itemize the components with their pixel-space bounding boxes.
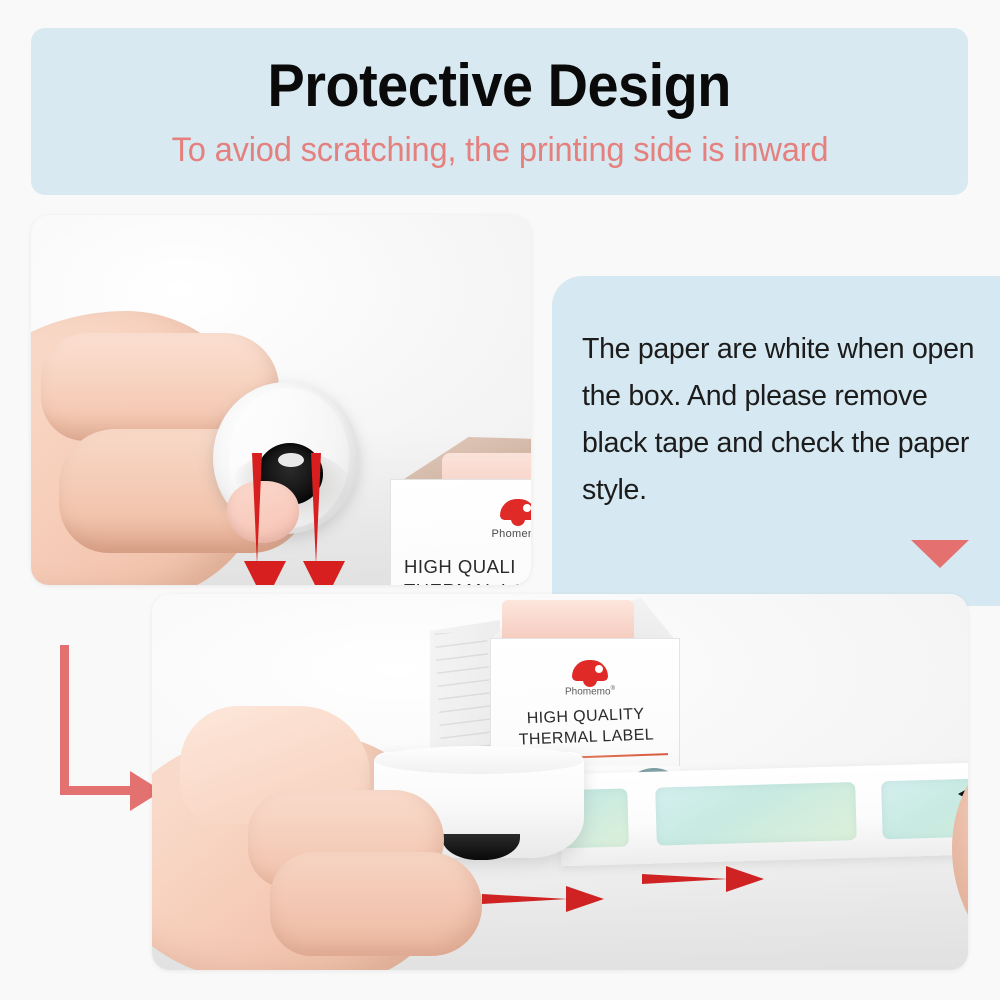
red-right-arrow-icon [482,886,606,912]
photo-peeling-label-scene: Phomemo® HIGH QUALITY THERMAL LABEL [152,594,968,970]
mushroom-logo-icon [572,660,604,684]
red-right-arrow-icon [642,866,766,892]
label-roll-core-hole [278,453,304,467]
box-brand-name-top: Phomemo® [474,528,531,540]
box-title-top: HIGH QUALI THERMAL LA [404,555,531,585]
arrow-shaft [642,874,728,884]
arrow-shaft [311,453,321,565]
arrow-shaft [482,894,568,904]
arrow-head [566,886,604,912]
elbow-vertical [60,645,69,795]
elbow-horizontal [60,786,136,795]
down-triangle-icon [911,540,969,568]
red-down-arrow-icon [303,453,329,585]
label-roll-top-edge [374,746,584,774]
brand-mark: ® [611,686,615,692]
arrow-shaft [252,453,262,565]
info-text-highlight-4: check [771,427,844,461]
label-sticker [655,782,857,846]
box-title-top-line2: THERMAL LA [404,579,531,585]
thumb-finger [270,852,482,956]
header-banner: Protective Design To aviod scratching, t… [31,28,968,195]
infographic-stage: Protective Design To aviod scratching, t… [0,0,1000,1000]
photo-roll-closeup-scene: Phomemo® HIGH QUALI THERMAL LA [31,215,531,585]
mushroom-stem [511,515,525,526]
product-box-top: Phomemo® HIGH QUALI THERMAL LA [390,437,531,585]
mushroom-logo-icon [500,499,531,525]
arrow-head [303,561,345,585]
info-text-plain-1: The paper are [582,333,765,365]
page-subtitle: To aviod scratching, the printing side i… [171,131,828,170]
info-text-plain-3: and [709,427,771,459]
mushroom-dot [523,504,531,512]
info-panel-text: The paper are white when open the box. A… [582,326,984,514]
box-title-top-line1: HIGH QUALI [404,555,531,579]
brand-text: Phomemo [565,686,611,697]
info-text-highlight-1: white when [765,333,905,367]
arrow-head [726,866,764,892]
info-text-plain-2: And please [681,380,827,412]
label-strip [559,762,968,867]
box-title-bottom: HIGH QUALITY THERMAL LABEL [495,703,676,752]
brand-text: Phomemo [492,528,531,540]
photo-roll-closeup: Phomemo® HIGH QUALI THERMAL LA [31,215,531,585]
page-title: Protective Design [268,54,731,117]
photo-peeling-label: Phomemo® HIGH QUALITY THERMAL LABEL [152,594,968,970]
mushroom-dot [595,665,603,673]
arrow-head [244,561,286,585]
box-side-text-lines [435,631,493,754]
red-down-arrow-icon [244,453,270,585]
box-brand-name-bottom: Phomemo® [548,686,632,697]
